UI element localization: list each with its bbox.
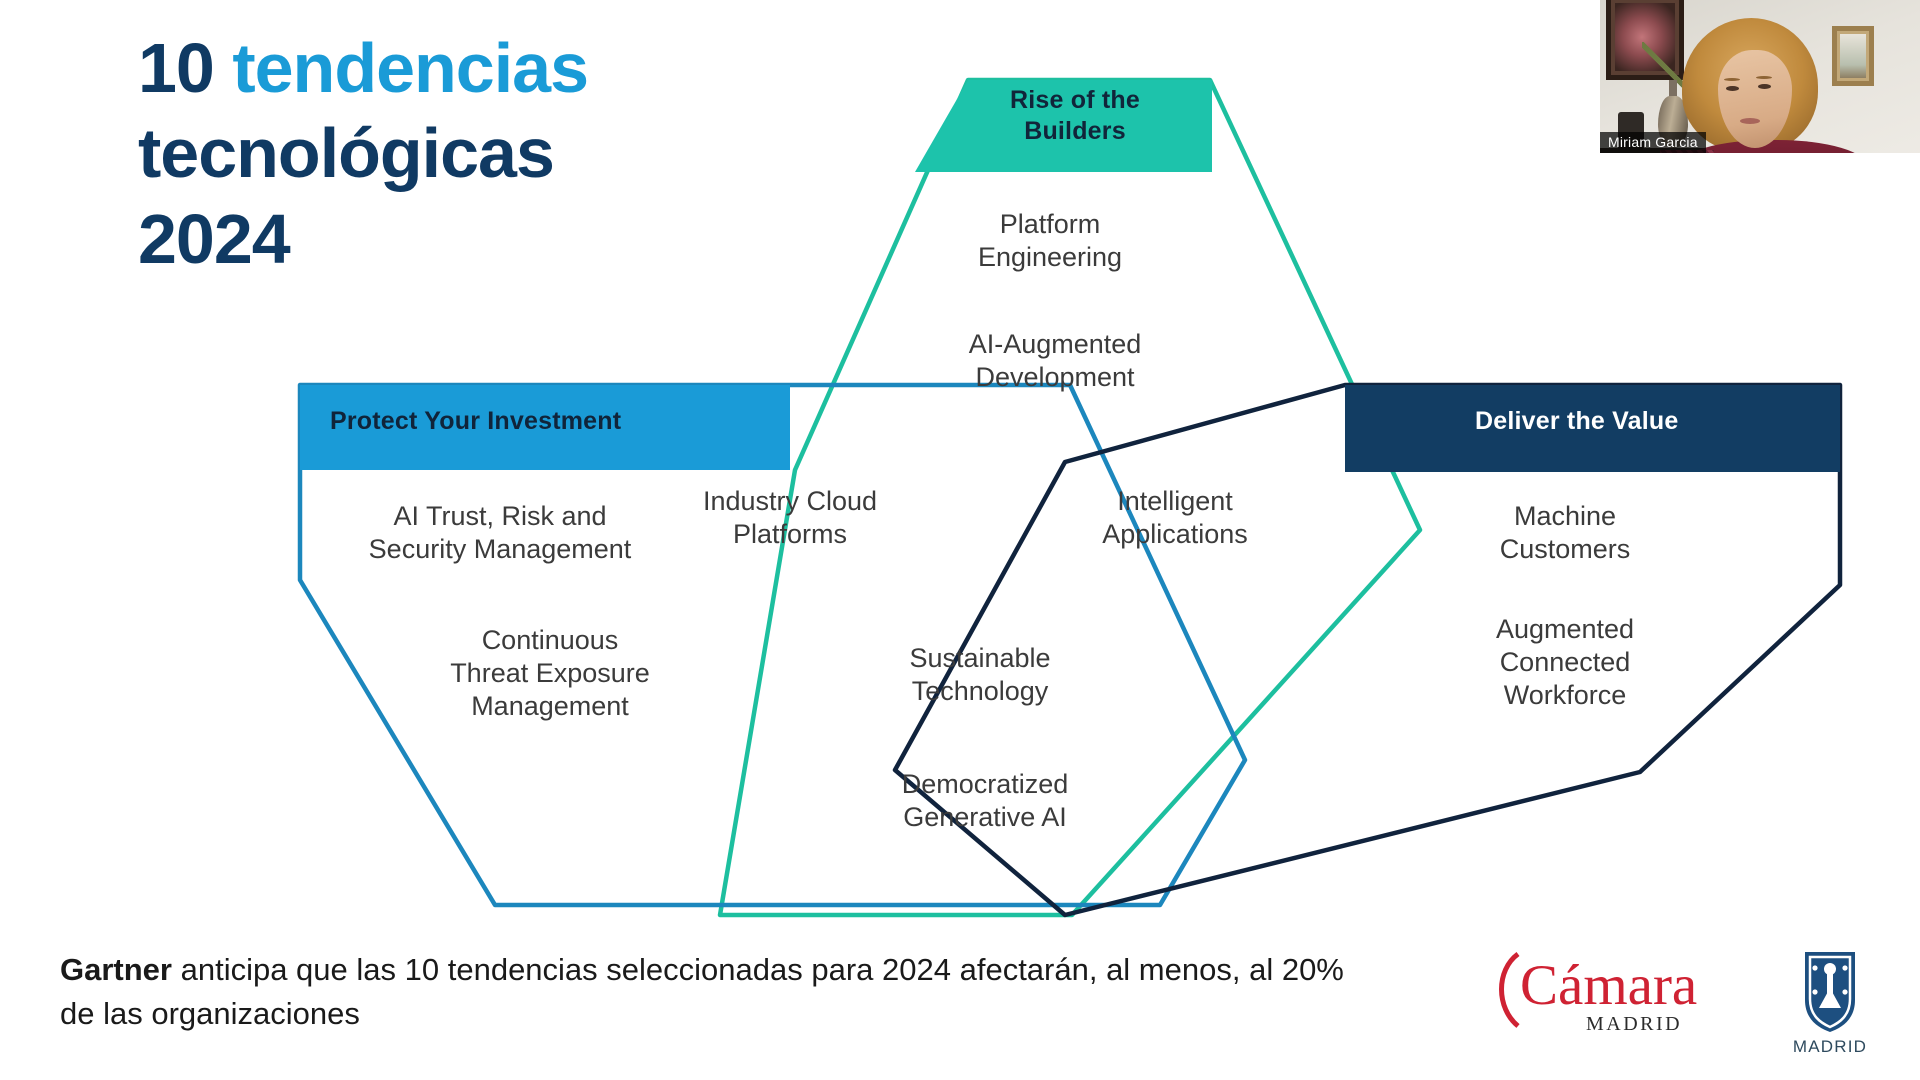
page-title: 10 tendencias tecnológicas 2024 xyxy=(138,26,758,282)
title-line-3: 2024 xyxy=(138,197,758,282)
banner-label-rise-of-the-builders: Rise of the Builders xyxy=(965,85,1185,148)
trend-democratized-generative-ai: Democratized Generative AI xyxy=(840,768,1130,834)
title-line-2: tecnológicas xyxy=(138,111,758,196)
mouth xyxy=(1740,118,1760,124)
banner-label-protect-your-investment: Protect Your Investment xyxy=(330,407,621,436)
madrid-city-logo: MADRID xyxy=(1775,948,1885,1056)
trend-augmented-connected-workforce: Augmented Connected Workforce xyxy=(1430,613,1700,712)
banner-label-deliver-the-value: Deliver the Value xyxy=(1475,407,1679,436)
trend-platform-engineering: Platform Engineering xyxy=(930,208,1170,274)
title-highlight: tendencias xyxy=(232,29,588,107)
trend-ai-augmented-development: AI-Augmented Development xyxy=(905,328,1205,394)
camara-sublabel: MADRID xyxy=(1586,1013,1682,1035)
presentation-slide: 10 tendencias tecnológicas 2024 Rise of … xyxy=(0,0,1920,1080)
webcam-participant-tile[interactable]: Miriam Garcia xyxy=(1598,0,1920,180)
trend-ai-trust-risk-and-security-management: AI Trust, Risk and Security Management xyxy=(310,500,690,566)
footer-bold-lead: Gartner xyxy=(60,952,172,987)
footer-rest: anticipa que las 10 tendencias seleccion… xyxy=(60,952,1344,1031)
participant-name-label: Miriam Garcia xyxy=(1600,132,1706,153)
camara-madrid-logo: Cámara MADRID xyxy=(1490,948,1730,1036)
title-line-1: 10 tendencias xyxy=(138,26,758,111)
madrid-sublabel: MADRID xyxy=(1793,1037,1867,1056)
webcam-bottom-strip xyxy=(1600,153,1920,178)
eyebrow-right xyxy=(1756,76,1772,79)
trend-intelligent-applications: Intelligent Applications xyxy=(1040,485,1310,551)
trend-industry-cloud-platforms: Industry Cloud Platforms xyxy=(650,485,930,551)
eyebrow-left xyxy=(1724,78,1740,81)
camara-wordmark: Cámara xyxy=(1520,954,1697,1017)
footer-caption: Gartner anticipa que las 10 tendencias s… xyxy=(60,948,1380,1036)
wall-mirror-icon xyxy=(1832,26,1874,86)
plant-stem xyxy=(1642,42,1684,88)
eye-right xyxy=(1758,84,1771,89)
trend-machine-customers: Machine Customers xyxy=(1430,500,1700,566)
trend-sustainable-technology: Sustainable Technology xyxy=(845,642,1115,708)
trend-continuous-threat-exposure-management: Continuous Threat Exposure Management xyxy=(390,624,710,723)
eye-left xyxy=(1726,86,1739,91)
